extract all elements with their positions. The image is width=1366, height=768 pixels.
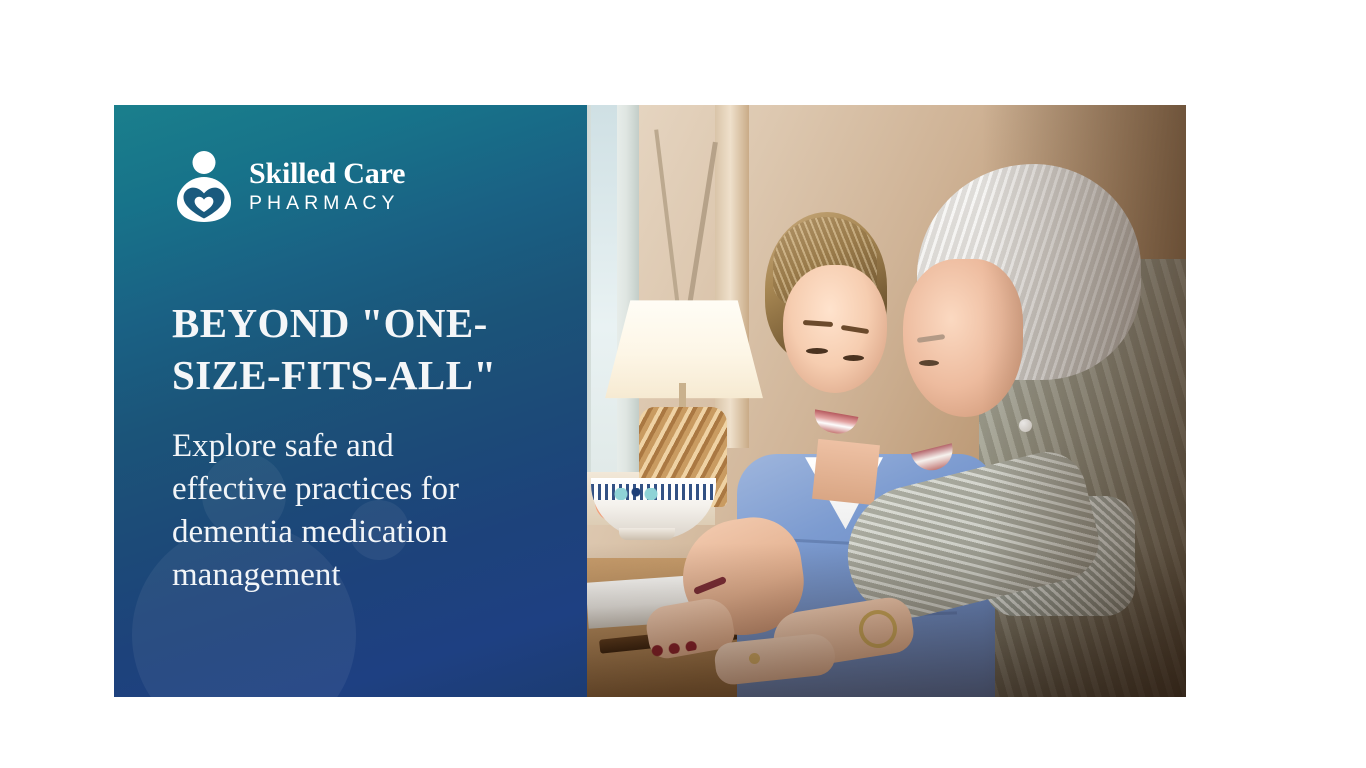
nurse-eye: [806, 348, 828, 354]
banner-photo: [587, 105, 1186, 697]
lamp-neck: [679, 383, 686, 409]
mother-and-child-heart-icon: [172, 150, 236, 222]
bowl-pattern-dots: [603, 488, 716, 500]
bowl-foot: [619, 528, 675, 540]
brand-subname: PHARMACY: [249, 191, 405, 215]
promo-banner-card: Skilled Care PHARMACY BEYOND "ONE-SIZE-F…: [114, 105, 1186, 697]
headline: BEYOND "ONE-SIZE-FITS-ALL": [172, 298, 552, 401]
elderly-woman-eye: [919, 360, 939, 366]
brand-logo[interactable]: Skilled Care PHARMACY: [172, 150, 587, 222]
photo-shadow-bottom: [587, 543, 1186, 697]
page-canvas: Skilled Care PHARMACY BEYOND "ONE-SIZE-F…: [0, 0, 1366, 768]
nurse-neck: [812, 439, 880, 505]
brand-panel: Skilled Care PHARMACY BEYOND "ONE-SIZE-F…: [114, 105, 587, 697]
nurse-face: [783, 265, 887, 393]
subheadline: Explore safe and effective practices for…: [172, 425, 502, 597]
photo-scene: [587, 105, 1186, 697]
brand-name: Skilled Care: [249, 159, 405, 190]
brand-wordmark: Skilled Care PHARMACY: [249, 157, 405, 216]
brand-panel-content: Skilled Care PHARMACY BEYOND "ONE-SIZE-F…: [114, 105, 587, 697]
window-glass: [591, 105, 617, 508]
